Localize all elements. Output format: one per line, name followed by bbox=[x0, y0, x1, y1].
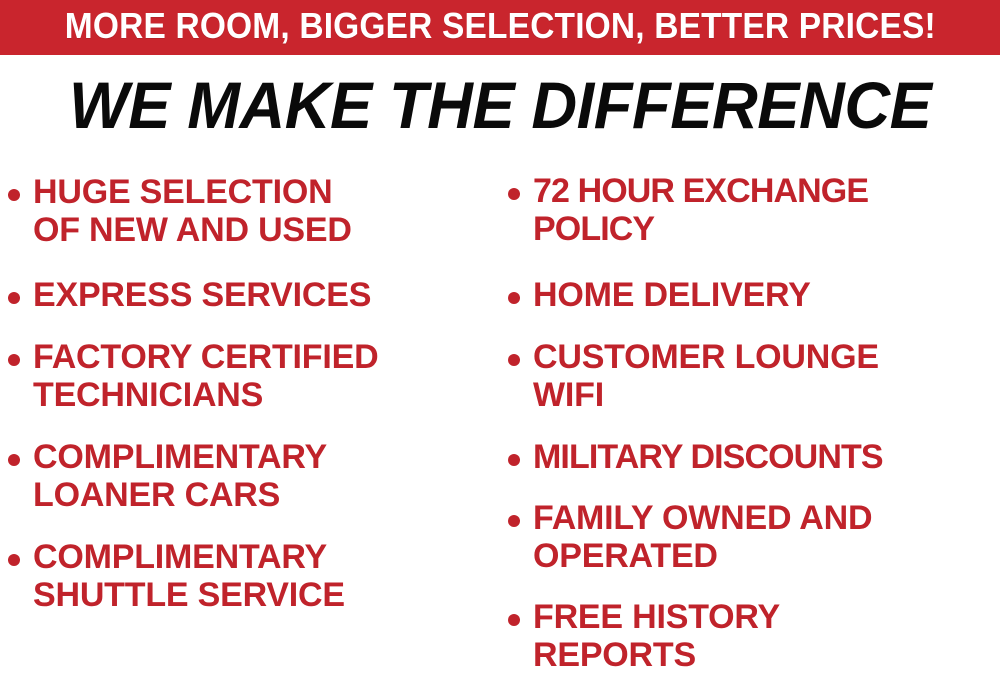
benefit-item-label: COMPLIMENTARY SHUTTLE SERVICE bbox=[33, 538, 500, 614]
benefit-item-label: EXPRESS SERVICES bbox=[33, 276, 500, 314]
benefit-item: HUGE SELECTION OF NEW AND USED bbox=[8, 173, 500, 249]
bullet-dot-icon bbox=[8, 454, 20, 466]
promotional-poster: MORE ROOM, BIGGER SELECTION, BETTER PRIC… bbox=[0, 0, 1000, 694]
top-banner-text: MORE ROOM, BIGGER SELECTION, BETTER PRIC… bbox=[64, 8, 935, 44]
bullet-dot-icon bbox=[8, 292, 20, 304]
benefit-item: FACTORY CERTIFIED TECHNICIANS bbox=[8, 338, 500, 414]
benefit-item: HOME DELIVERY bbox=[508, 276, 1000, 314]
benefit-item: FAMILY OWNED AND OPERATED bbox=[508, 499, 1000, 575]
bullet-dot-icon bbox=[8, 189, 20, 201]
top-banner: MORE ROOM, BIGGER SELECTION, BETTER PRIC… bbox=[0, 0, 1000, 55]
benefit-item-label: FACTORY CERTIFIED TECHNICIANS bbox=[33, 338, 500, 414]
bullet-dot-icon bbox=[508, 614, 520, 626]
benefit-item-label: CUSTOMER LOUNGE WIFI bbox=[533, 338, 1000, 414]
benefit-item: FREE HISTORY REPORTS bbox=[508, 598, 1000, 674]
benefit-item: CUSTOMER LOUNGE WIFI bbox=[508, 338, 1000, 414]
benefit-item-label: HUGE SELECTION OF NEW AND USED bbox=[33, 173, 500, 249]
bullet-dot-icon bbox=[508, 354, 520, 366]
bullet-dot-icon bbox=[508, 454, 520, 466]
benefits-column-left: HUGE SELECTION OF NEW AND USEDEXPRESS SE… bbox=[8, 155, 500, 694]
benefits-column-right: 72 HOUR EXCHANGE POLICYHOME DELIVERYCUST… bbox=[508, 155, 1000, 694]
bullet-dot-icon bbox=[508, 188, 520, 200]
benefit-item-label: HOME DELIVERY bbox=[533, 276, 1000, 314]
benefit-item-label: MILITARY DISCOUNTS bbox=[533, 438, 1000, 476]
benefit-item-label: FAMILY OWNED AND OPERATED bbox=[533, 499, 1000, 575]
bullet-dot-icon bbox=[8, 554, 20, 566]
bullet-dot-icon bbox=[508, 292, 520, 304]
benefit-item: 72 HOUR EXCHANGE POLICY bbox=[508, 172, 1000, 248]
headline-text: WE MAKE THE DIFFERENCE bbox=[69, 72, 931, 138]
benefit-item: COMPLIMENTARY SHUTTLE SERVICE bbox=[8, 538, 500, 614]
benefits-columns: HUGE SELECTION OF NEW AND USEDEXPRESS SE… bbox=[0, 155, 1000, 694]
headline: WE MAKE THE DIFFERENCE bbox=[0, 72, 1000, 138]
benefit-item: COMPLIMENTARY LOANER CARS bbox=[8, 438, 500, 514]
bullet-dot-icon bbox=[508, 515, 520, 527]
benefit-item: EXPRESS SERVICES bbox=[8, 276, 500, 314]
bullet-dot-icon bbox=[8, 354, 20, 366]
benefit-item-label: COMPLIMENTARY LOANER CARS bbox=[33, 438, 500, 514]
benefit-item: MILITARY DISCOUNTS bbox=[508, 438, 1000, 476]
benefit-item-label: 72 HOUR EXCHANGE POLICY bbox=[533, 172, 1000, 248]
benefit-item-label: FREE HISTORY REPORTS bbox=[533, 598, 1000, 674]
